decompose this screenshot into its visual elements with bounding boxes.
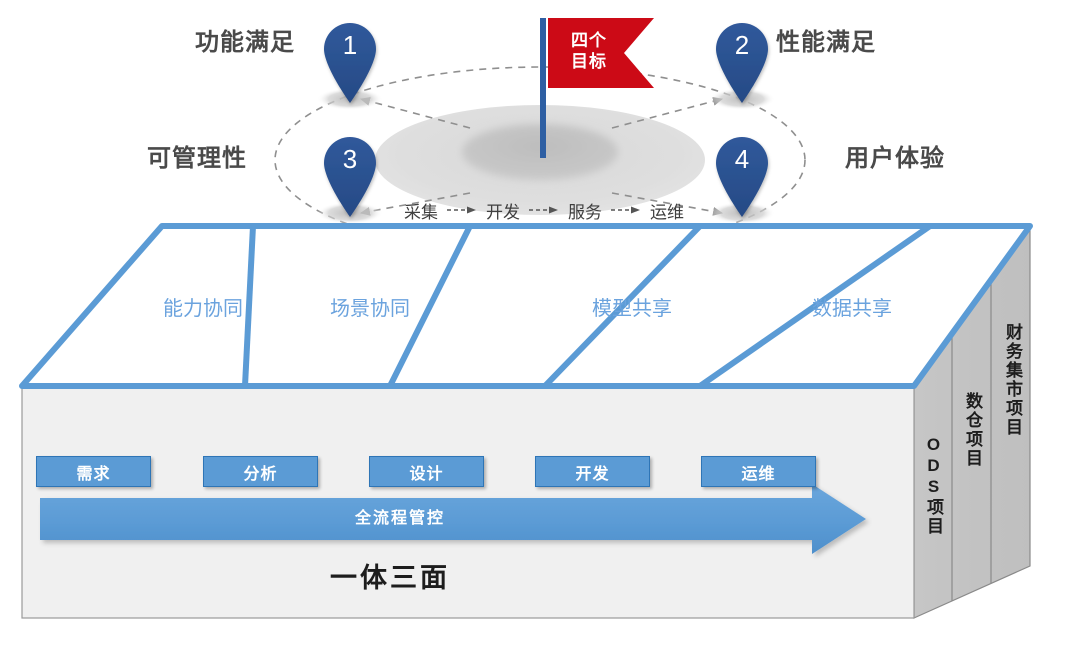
lifecycle-step-4: 运维 [650,198,684,223]
side-panel-label-ods: ODS项目 [921,435,946,536]
phase-button-operation[interactable]: 运维 [701,456,816,487]
goal-pin-number-2: 2 [720,30,764,61]
phase-button-development[interactable]: 开发 [535,456,650,487]
top-face-cell-1: 能力协同 [163,292,243,321]
goal-label-1: 功能满足 [195,22,295,57]
flag-label-line2: 目标 [558,51,620,72]
lifecycle-arrow-icon [611,205,641,215]
diagram-canvas: 功能满足 性能满足 可管理性 用户体验 1 2 3 4 四个 目标 采集 开发 … [0,0,1080,651]
lifecycle-arrow-icon [447,205,477,215]
side-panel-label-dw: 数仓项目 [960,392,985,468]
phase-button-design[interactable]: 设计 [369,456,484,487]
lifecycle-step-3: 服务 [568,198,602,223]
lifecycle-step-2: 开发 [486,198,520,223]
side-panel-label-finance: 财务集市项目 [1000,323,1025,437]
process-arrow-label: 全流程管控 [0,504,800,528]
goal-label-3: 可管理性 [147,138,247,173]
bottom-title: 一体三面 [0,556,780,595]
goal-label-2: 性能满足 [776,22,876,57]
phase-button-requirement[interactable]: 需求 [36,456,151,487]
top-face-cell-2: 场景协同 [330,292,410,321]
lifecycle-arrow-icon [529,205,559,215]
top-face-cell-4: 数据共享 [812,292,892,321]
goal-pin-number-3: 3 [328,144,372,175]
goal-pin-number-1: 1 [328,30,372,61]
lifecycle-step-1: 采集 [404,198,438,223]
diagram-vector-layer [0,0,1080,651]
lifecycle-chain: 采集 开发 服务 运维 [404,198,684,222]
top-face-cell-3: 模型共享 [592,292,672,321]
phase-button-analysis[interactable]: 分析 [203,456,318,487]
flag-label-line1: 四个 [558,30,620,51]
goal-pin-number-4: 4 [720,144,764,175]
goal-label-4: 用户体验 [845,138,945,173]
